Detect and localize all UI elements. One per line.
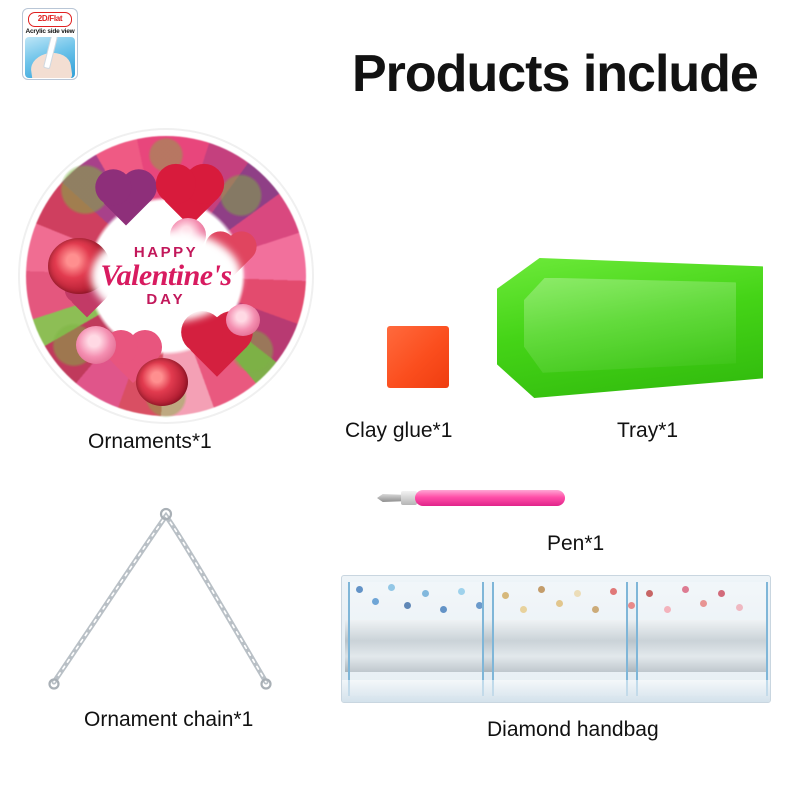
acrylic-side-view-badge: 2D/Flat Acrylic side view xyxy=(22,8,78,80)
flower-icon xyxy=(226,304,260,336)
ornament-product-image: HAPPY Valentine's DAY xyxy=(20,130,312,422)
flower-icon xyxy=(76,326,116,364)
tray-image xyxy=(497,258,763,398)
clay-glue-caption: Clay glue*1 xyxy=(345,419,452,443)
chain-svg xyxy=(40,494,280,694)
diamond-handbag-caption: Diamond handbag xyxy=(487,718,659,742)
art-line-day: DAY xyxy=(81,291,251,308)
art-line-valentines: Valentine's xyxy=(81,261,251,291)
tray-caption: Tray*1 xyxy=(617,419,678,443)
valentine-artwork-text: HAPPY Valentine's DAY xyxy=(81,244,251,308)
hand-holding-acrylic-icon xyxy=(25,37,75,78)
pen-caption: Pen*1 xyxy=(547,532,604,556)
badge-subtitle: Acrylic side view xyxy=(23,28,77,35)
rose-icon xyxy=(136,358,188,406)
diamond-handbag-image xyxy=(341,575,771,703)
pen-body xyxy=(415,490,565,506)
ornament-caption: Ornaments*1 xyxy=(88,430,212,454)
ornament-chain-image xyxy=(40,494,280,694)
badge-title: 2D/Flat xyxy=(28,12,72,27)
clay-glue-image xyxy=(387,326,449,388)
ornament-chain-caption: Ornament chain*1 xyxy=(84,708,253,732)
page-title: Products include xyxy=(352,44,758,104)
pen-image xyxy=(377,488,565,514)
pen-tip-icon xyxy=(377,494,403,502)
